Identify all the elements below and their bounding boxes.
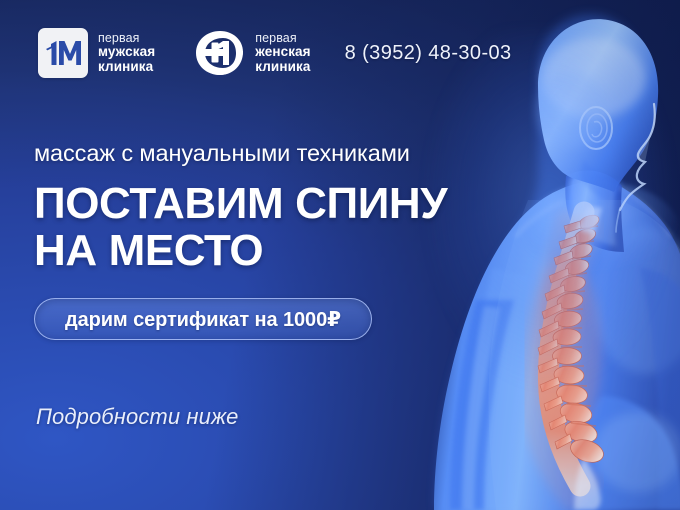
- logo-text-mens: первая мужская клиника: [98, 32, 155, 74]
- promo-banner: первая мужская клиника: [0, 0, 680, 510]
- logo-line-1: первая: [98, 32, 155, 45]
- logo-line-3: клиника: [98, 60, 155, 74]
- headline-line-2: НА МЕСТО: [34, 228, 447, 275]
- logo-line-2: мужская: [98, 45, 155, 59]
- phone-number[interactable]: 8 (3952) 48-30-03: [345, 42, 512, 65]
- footnote-text: Подробности ниже: [36, 404, 239, 430]
- logo-text-womens: первая женская клиника: [255, 32, 310, 74]
- kicker-text: массаж с мануальными техниками: [34, 140, 447, 167]
- logo-first-womens-clinic[interactable]: первая женская клиника: [193, 28, 310, 78]
- logo-line-3: клиника: [255, 60, 310, 74]
- headline: ПОСТАВИМ СПИНУ НА МЕСТО: [34, 181, 447, 274]
- logo-mark-plus-one-icon: [193, 28, 245, 78]
- logo-first-mens-clinic[interactable]: первая мужская клиника: [38, 28, 155, 78]
- header: первая мужская клиника: [38, 28, 512, 78]
- logo-line-1: первая: [255, 32, 310, 45]
- logo-mark-1m-icon: [38, 28, 88, 78]
- copy-block: массаж с мануальными техниками ПОСТАВИМ …: [34, 140, 447, 340]
- headline-line-1: ПОСТАВИМ СПИНУ: [34, 181, 447, 228]
- logo-line-2: женская: [255, 45, 310, 59]
- offer-pill[interactable]: дарим сертификат на 1000₽: [34, 298, 372, 340]
